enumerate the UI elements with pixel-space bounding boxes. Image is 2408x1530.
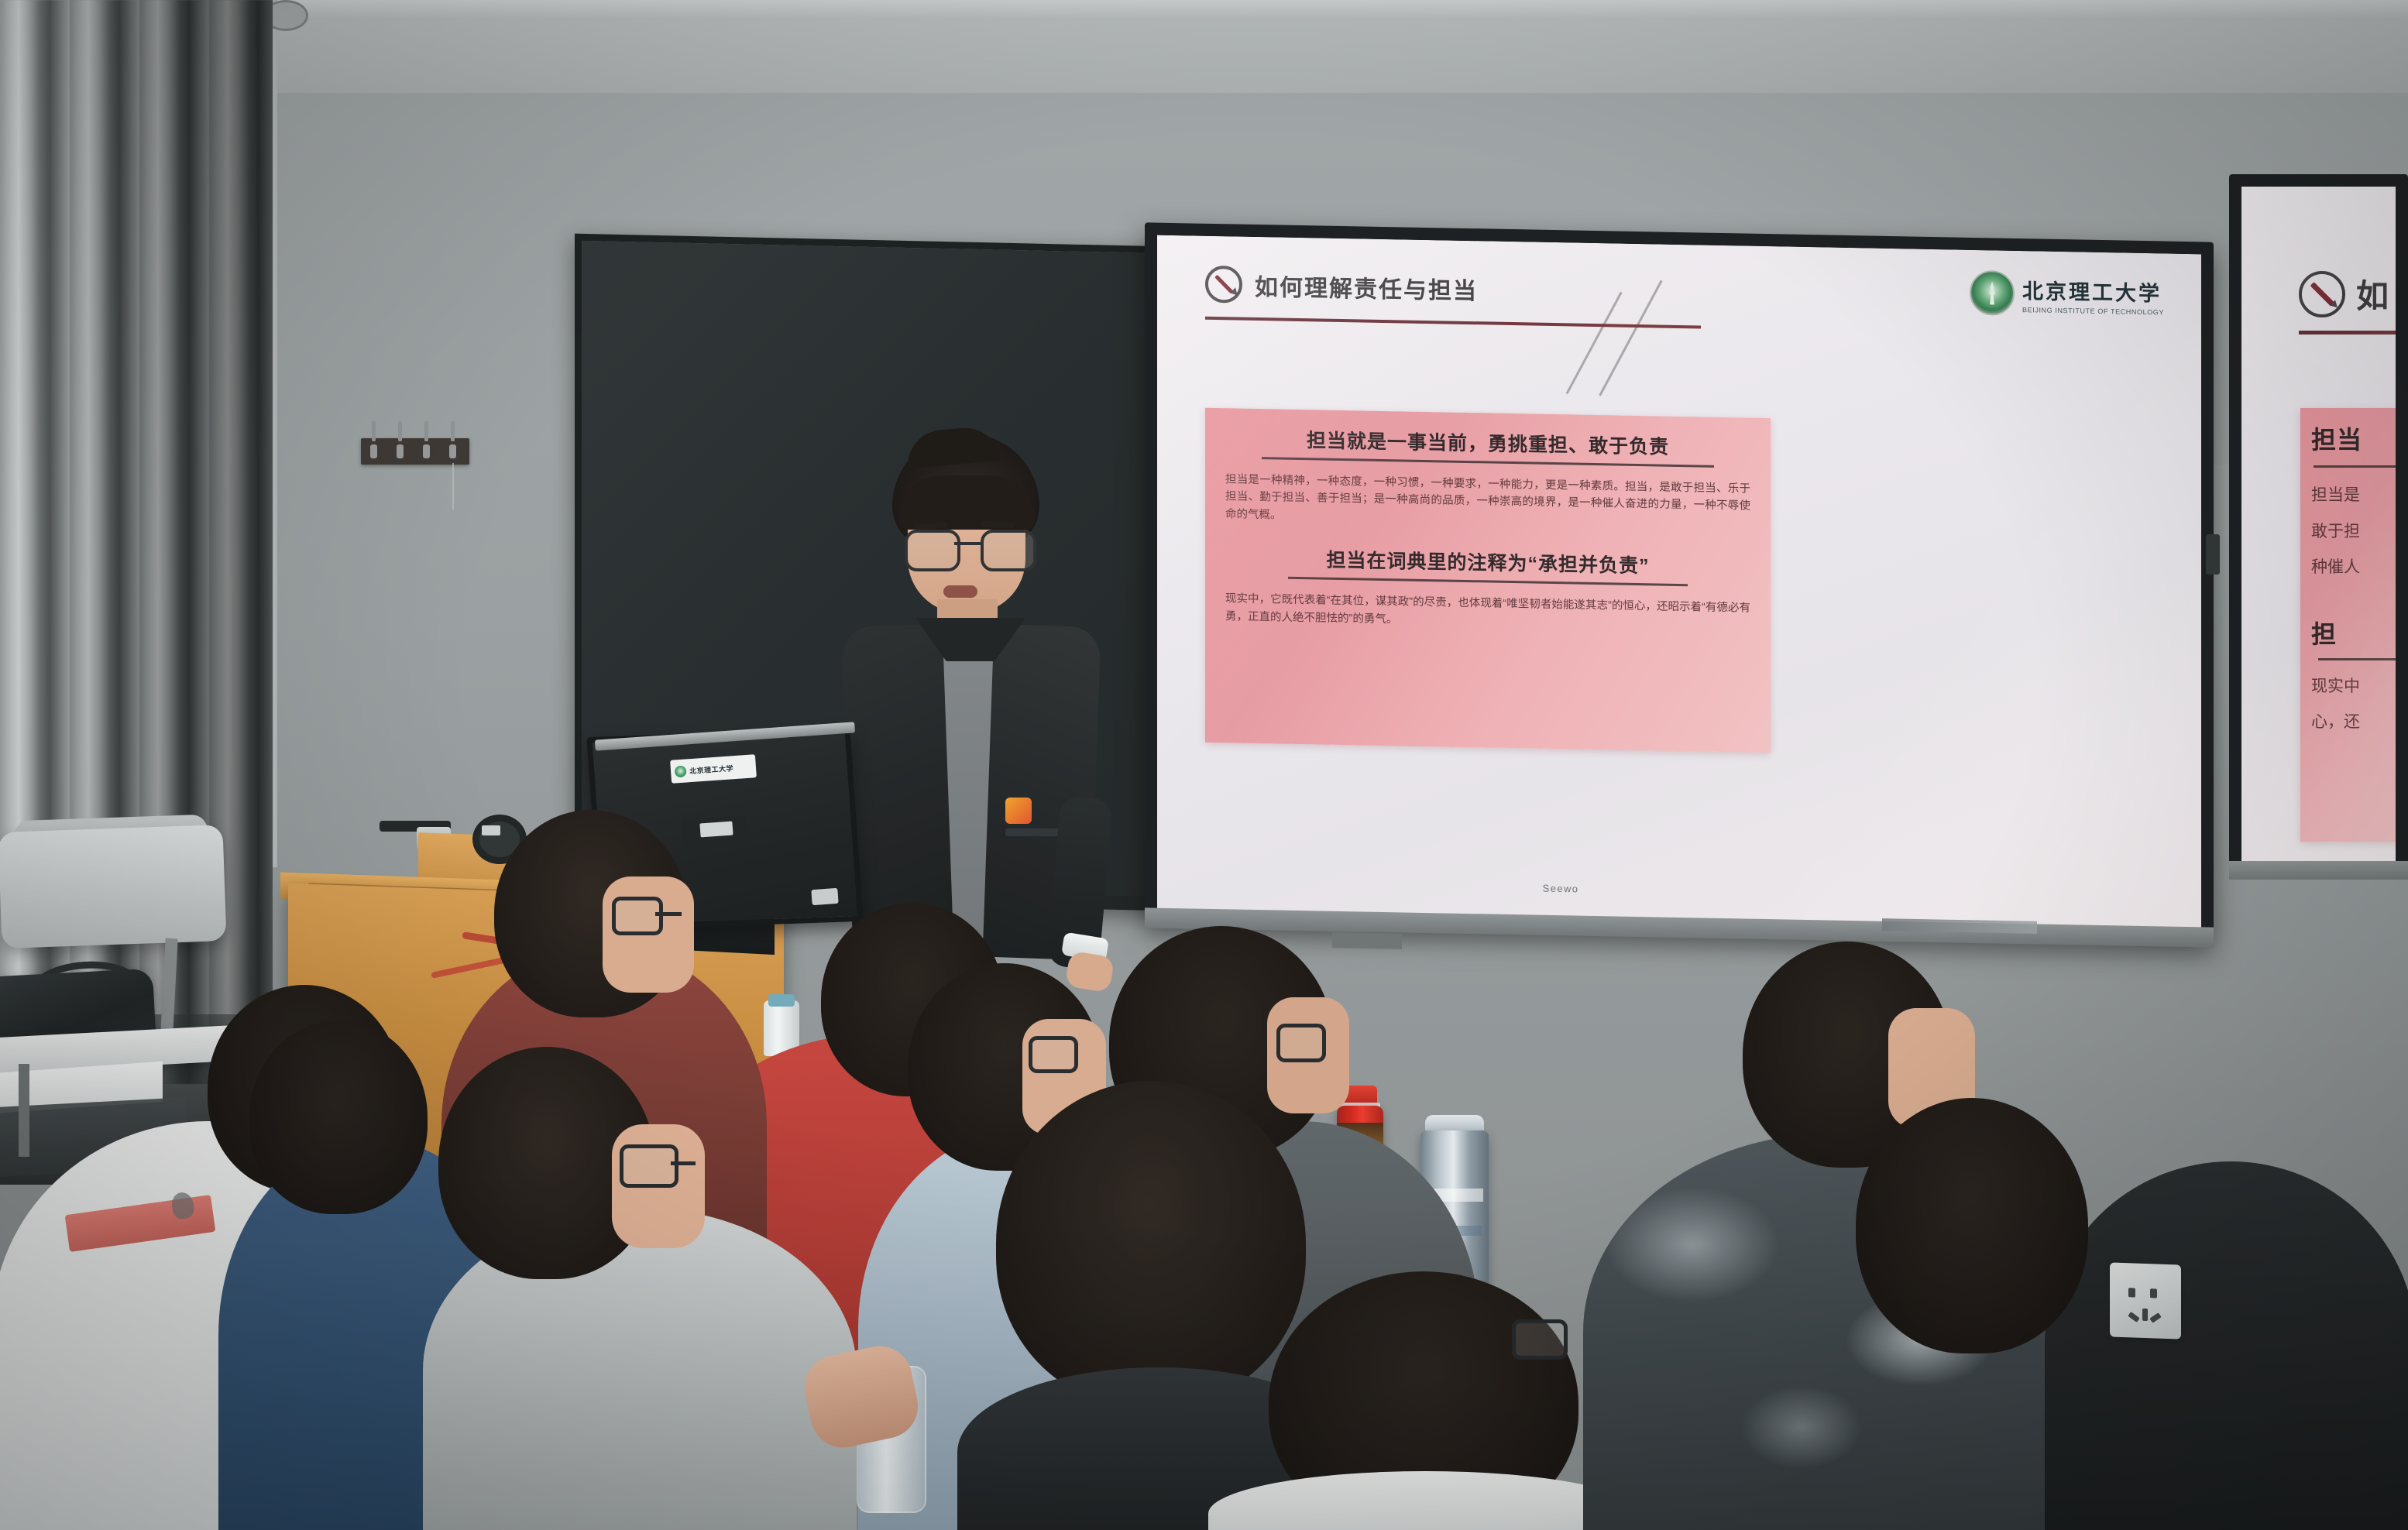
- eyeglasses-bridge: [671, 1161, 696, 1165]
- display-side-port[interactable]: [2206, 534, 2220, 575]
- podium-monitor-label: [699, 822, 733, 838]
- coat-hook-rack: [361, 438, 469, 465]
- card-p2-line1-second: 现实中: [2311, 674, 2396, 700]
- card-p2-line2-second: 心，还: [2311, 710, 2396, 736]
- microphone-window: [482, 825, 500, 835]
- university-logo: 北京理工大学 BEIJING INSTITUTE OF TECHNOLOGY: [1970, 270, 2164, 319]
- presentation-slide: 如何理解责任与担当 北京理工大学 BEIJING INSTITUTE OF TE…: [1157, 235, 2201, 931]
- logo-chinese-name: 北京理工大学: [2022, 274, 2164, 307]
- student-head-black-jacket: [1856, 1098, 2088, 1353]
- decor-slash-1: [1566, 292, 1623, 395]
- ceiling-edge: [256, 0, 2408, 20]
- card-heading-1: 担当就是一事当前，勇挑重担、敢于负责: [1225, 424, 1750, 461]
- presenter-fringe: [898, 475, 1035, 530]
- logo-english-name: BEIJING INSTITUTE OF TECHNOLOGY: [2022, 306, 2164, 316]
- card-line-2-second: 敢于担: [2311, 520, 2396, 545]
- desk-leg: [19, 1064, 29, 1157]
- wall-power-outlet[interactable]: [2110, 1262, 2181, 1339]
- pencil-in-circle-icon: [2299, 271, 2345, 317]
- display-mount-bracket: [1332, 932, 1402, 949]
- student-head-navy: [249, 1021, 428, 1214]
- display-brand-label: Seewo: [1514, 882, 1607, 896]
- student-body-black-jacket: [2045, 1161, 2408, 1530]
- slide-content-card: 担当就是一事当前，勇挑重担、敢于负责 担当是一种精神，一种态度，一种习惯，一种要…: [1205, 408, 1771, 753]
- white-bottle-cap: [768, 994, 795, 1007]
- presenter-chest-badge: [1005, 798, 1032, 824]
- student-presenter: [821, 434, 1100, 976]
- card-paragraph-1: 担当是一种精神，一种态度，一种习惯，一种要求，一种能力，更是一种素质。担当，是敢…: [1225, 471, 1750, 533]
- interactive-display-second[interactable]: 如 担当 担当是 敢于担 种催人 担 现实中 心，还: [2229, 174, 2408, 875]
- bit-emblem-icon: [1970, 270, 2015, 316]
- card-heading-1-second: 担当: [2311, 420, 2396, 456]
- eyeglasses-icon: [1276, 1024, 1326, 1062]
- display-screen-second: 如 担当 担当是 敢于担 种催人 担 现实中 心，还: [2241, 187, 2396, 863]
- card-heading-2-second: 担: [2311, 615, 2396, 650]
- display-second-lower-bezel: [2229, 861, 2408, 880]
- podium-monitor-sticker-text: 北京理工大学: [689, 763, 734, 776]
- slide-title: 如何理解责任与担当: [1255, 268, 1478, 306]
- slide-header: 如何理解责任与担当: [1205, 266, 1478, 307]
- hanging-string: [452, 463, 454, 509]
- slide-title-rule: [1205, 317, 1701, 329]
- presentation-slide-second: 如 担当 担当是 敢于担 种催人 担 现实中 心，还: [2241, 187, 2396, 863]
- presenter-mouth: [943, 585, 977, 598]
- slide-title-second: 如: [2356, 270, 2390, 317]
- display-screen-main: 如何理解责任与担当 北京理工大学 BEIJING INSTITUTE OF TE…: [1157, 235, 2201, 931]
- bit-emblem-icon: [675, 765, 687, 777]
- card-heading-2: 担当在词典里的注释为“承担并负责”: [1225, 544, 1750, 581]
- eyeglasses-bridge: [655, 912, 682, 916]
- classroom-scene-photo: 如何理解责任与担当 北京理工大学 BEIJING INSTITUTE OF TE…: [0, 0, 2408, 1530]
- decor-slash-2: [1599, 280, 1662, 396]
- stacking-chair: [0, 825, 227, 949]
- pencil-in-circle-icon: [1205, 266, 1242, 304]
- slide-header-second: 如: [2299, 270, 2390, 317]
- card-line-1-second: 担当是: [2311, 483, 2396, 509]
- eyeglasses-icon: [1029, 1036, 1078, 1073]
- card-paragraph-2: 现实中，它既代表着“在其位，谋其政”的尽责，也体现着“唯坚韧者始能遂其志”的恒心…: [1225, 591, 1750, 635]
- card-line-3-second: 种催人: [2311, 555, 2396, 581]
- interactive-display-main[interactable]: 如何理解责任与担当 北京理工大学 BEIJING INSTITUTE OF TE…: [1145, 222, 2214, 942]
- eyeglasses-icon: [1512, 1319, 1568, 1360]
- student-head-center-bottom: [996, 1081, 1306, 1406]
- eyeglasses-icon: [620, 1144, 678, 1188]
- slide-title-rule-second: [2299, 331, 2396, 334]
- podium-monitor-button[interactable]: [811, 888, 838, 905]
- eyeglasses-icon: [612, 897, 663, 935]
- slide-content-card-second: 担当 担当是 敢于担 种催人 担 现实中 心，还: [2300, 408, 2396, 842]
- eyeglasses-icon: [905, 530, 1030, 565]
